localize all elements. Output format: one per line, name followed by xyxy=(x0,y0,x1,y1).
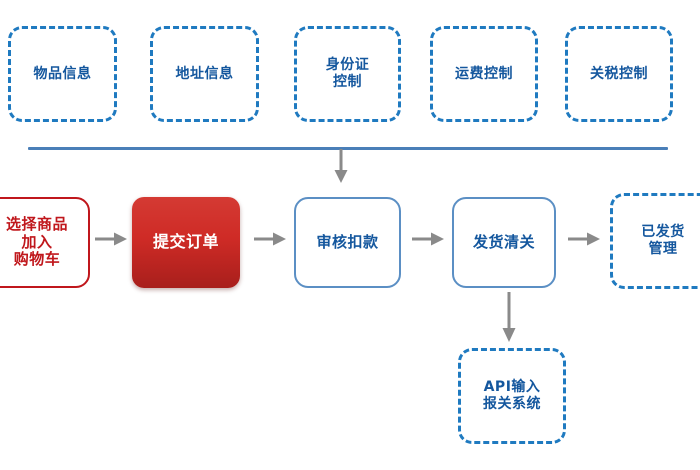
arrow-select-to-submit-icon xyxy=(95,229,129,249)
control-box-item-info[interactable]: 物品信息 xyxy=(8,26,117,122)
control-box-label: 物品信息 xyxy=(34,66,92,83)
flowchart-canvas: 物品信息 地址信息 身份证 控制 运费控制 关税控制 选择商品 加入 购物车 提… xyxy=(0,0,700,470)
arrow-ship-to-api-icon xyxy=(499,292,519,344)
flow-step-select-goods[interactable]: 选择商品 加入 购物车 xyxy=(0,197,90,288)
flow-step-label: 审核扣款 xyxy=(316,234,378,252)
flow-step-label: 已发货 管理 xyxy=(641,224,685,257)
flow-step-review-deduct[interactable]: 审核扣款 xyxy=(294,197,401,288)
control-box-tariff-control[interactable]: 关税控制 xyxy=(565,26,673,122)
control-box-label: 地址信息 xyxy=(176,66,234,83)
control-box-freight-control[interactable]: 运费控制 xyxy=(430,26,538,122)
flow-step-label: 选择商品 加入 购物车 xyxy=(6,216,68,269)
flow-step-label: 提交订单 xyxy=(153,233,219,252)
arrow-ship-to-shipped-icon xyxy=(568,229,602,249)
control-box-label: 运费控制 xyxy=(455,66,513,83)
control-box-address-info[interactable]: 地址信息 xyxy=(150,26,259,122)
sub-flow-label: API输入 报关系统 xyxy=(483,379,541,412)
arrow-submit-to-review-icon xyxy=(254,229,288,249)
arrow-divider-to-review-icon xyxy=(331,149,351,185)
flow-step-shipped-manage[interactable]: 已发货 管理 xyxy=(610,193,700,289)
flow-step-ship-customs[interactable]: 发货清关 xyxy=(452,197,556,288)
flow-step-submit-order[interactable]: 提交订单 xyxy=(132,197,240,288)
control-box-label: 身份证 控制 xyxy=(326,57,370,90)
sub-flow-api-customs[interactable]: API输入 报关系统 xyxy=(458,348,566,444)
arrow-review-to-ship-icon xyxy=(412,229,446,249)
flow-step-label: 发货清关 xyxy=(473,234,535,252)
control-box-label: 关税控制 xyxy=(590,66,648,83)
control-box-id-control[interactable]: 身份证 控制 xyxy=(294,26,401,122)
